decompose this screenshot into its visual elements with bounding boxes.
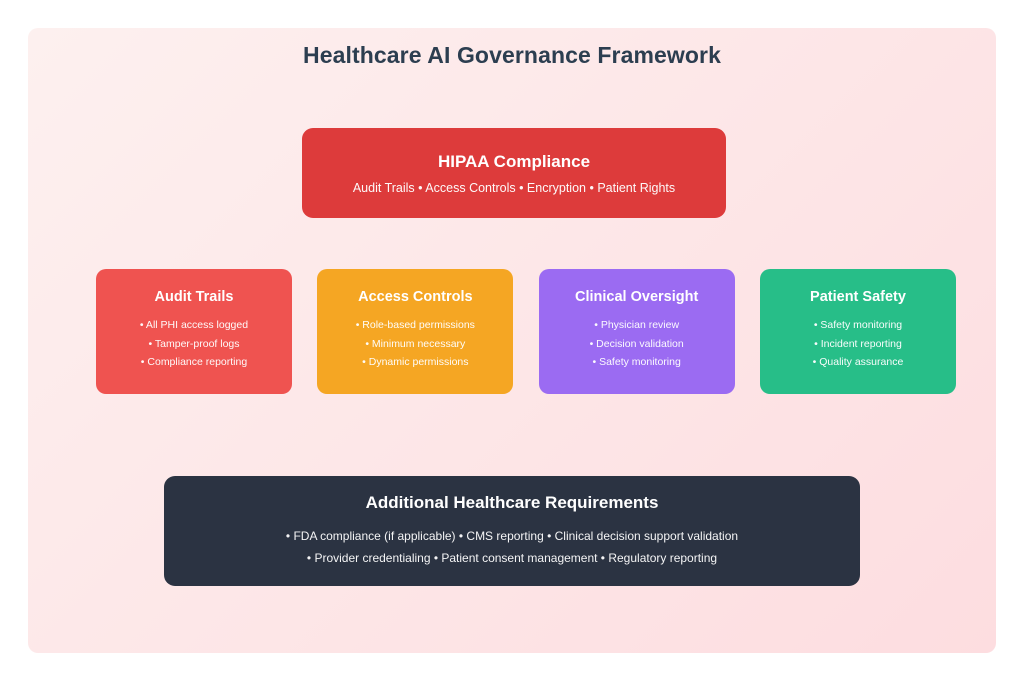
pillar-card-item: • Incident reporting <box>814 335 902 354</box>
pillar-card-item: • Tamper-proof logs <box>148 335 239 354</box>
pillar-card-access-controls: Access Controls • Role-based permissions… <box>317 269 513 394</box>
pillar-card-title: Clinical Oversight <box>575 289 698 305</box>
pillar-card-audit-trails: Audit Trails • All PHI access logged • T… <box>96 269 292 394</box>
pillar-card-item: • Decision validation <box>590 335 684 354</box>
pillar-card-item: • Minimum necessary <box>365 335 465 354</box>
additional-requirements-line: • FDA compliance (if applicable) • CMS r… <box>286 525 738 547</box>
page-title: Healthcare AI Governance Framework <box>28 42 996 69</box>
pillar-card-clinical-oversight: Clinical Oversight • Physician review • … <box>539 269 735 394</box>
pillar-card-item: • Quality assurance <box>813 353 904 372</box>
diagram-canvas: Healthcare AI Governance Framework HIPAA… <box>28 28 996 653</box>
additional-requirements-title: Additional Healthcare Requirements <box>366 493 659 513</box>
pillar-card-item: • Dynamic permissions <box>362 353 468 372</box>
pillar-card-patient-safety: Patient Safety • Safety monitoring • Inc… <box>760 269 956 394</box>
pillar-card-item: • Safety monitoring <box>814 316 902 335</box>
pillar-card-item: • Physician review <box>594 316 679 335</box>
pillar-cards-row: Audit Trails • All PHI access logged • T… <box>96 269 956 404</box>
hipaa-banner-subtitle: Audit Trails • Access Controls • Encrypt… <box>353 181 675 195</box>
pillar-card-title: Access Controls <box>358 289 472 305</box>
pillar-card-item: • All PHI access logged <box>140 316 248 335</box>
hipaa-compliance-banner: HIPAA Compliance Audit Trails • Access C… <box>302 128 726 218</box>
hipaa-banner-title: HIPAA Compliance <box>438 152 590 172</box>
pillar-card-item: • Safety monitoring <box>593 353 681 372</box>
pillar-card-item: • Compliance reporting <box>141 353 247 372</box>
additional-requirements-line: • Provider credentialing • Patient conse… <box>307 547 717 569</box>
pillar-card-title: Patient Safety <box>810 289 906 305</box>
pillar-card-item: • Role-based permissions <box>356 316 475 335</box>
pillar-card-title: Audit Trails <box>155 289 234 305</box>
additional-requirements-panel: Additional Healthcare Requirements • FDA… <box>164 476 860 586</box>
